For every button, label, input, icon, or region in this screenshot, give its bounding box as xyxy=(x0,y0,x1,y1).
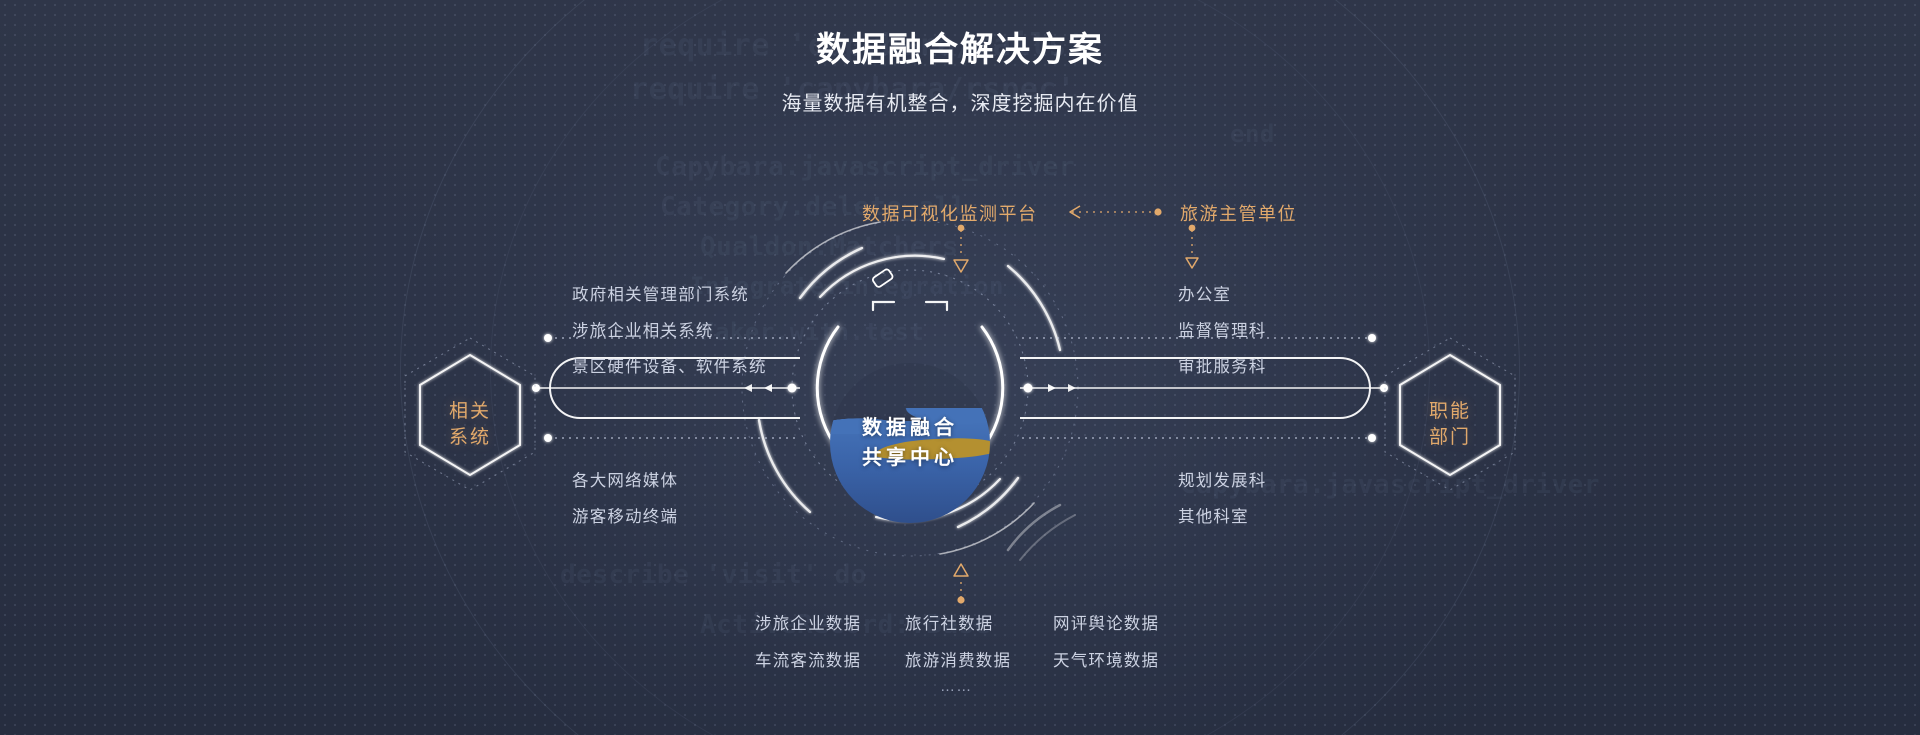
poster-background: require 'capybara/rails' require 'capyba… xyxy=(0,0,1920,735)
label-left-upper-2[interactable]: 景区硬件设备、软件系统 xyxy=(572,353,767,377)
page-subtitle: 海量数据有机整合，深度挖掘内在价值 xyxy=(0,87,1920,116)
right-hexagon-line2: 部门 xyxy=(1429,425,1471,451)
left-hexagon-label: 相关 系统 xyxy=(406,355,534,495)
label-visualization-platform[interactable]: 数据可视化监测平台 xyxy=(862,200,1038,226)
label-bottom-r2c2[interactable]: 天气环境数据 xyxy=(1053,647,1159,671)
sidebar-item-related-systems[interactable]: 相关 系统 xyxy=(406,355,534,495)
right-hexagon-label: 职能 部门 xyxy=(1386,355,1514,495)
center-hub[interactable]: 数据融合 共享中心 xyxy=(830,363,990,523)
label-right-lower-1[interactable]: 其他科室 xyxy=(1178,503,1249,527)
label-right-lower-0[interactable]: 规划发展科 xyxy=(1178,467,1267,491)
decorative-swoosh xyxy=(1008,505,1075,560)
label-right-upper-2[interactable]: 审批服务科 xyxy=(1178,353,1267,377)
label-bottom-r1c2[interactable]: 网评舆论数据 xyxy=(1053,610,1159,634)
label-bottom-r1c1[interactable]: 旅行社数据 xyxy=(905,610,994,634)
label-bottom-r1c0[interactable]: 涉旅企业数据 xyxy=(755,610,861,634)
label-bottom-r2c1[interactable]: 旅游消费数据 xyxy=(905,647,1011,671)
label-right-upper-1[interactable]: 监督管理科 xyxy=(1178,317,1267,341)
hub-line1: 数据融合 xyxy=(862,413,958,443)
page-title: 数据融合解决方案 xyxy=(0,30,1920,71)
hub-line2: 共享中心 xyxy=(862,443,958,473)
right-connector-group xyxy=(1020,334,1388,442)
bottom-orange-connector xyxy=(954,564,968,604)
label-left-lower-0[interactable]: 各大网络媒体 xyxy=(572,467,678,491)
label-left-upper-1[interactable]: 涉旅企业相关系统 xyxy=(572,317,714,341)
label-left-lower-1[interactable]: 游客移动终端 xyxy=(572,503,678,527)
left-hexagon-line1: 相关 xyxy=(449,399,491,425)
label-right-upper-0[interactable]: 办公室 xyxy=(1178,281,1231,305)
label-bottom-r2c0[interactable]: 车流客流数据 xyxy=(755,647,861,671)
label-bottom-ellipsis: …… xyxy=(940,678,972,695)
hub-label: 数据融合 共享中心 xyxy=(830,363,990,523)
right-hexagon-line1: 职能 xyxy=(1429,399,1471,425)
sidebar-item-functional-departments[interactable]: 职能 部门 xyxy=(1386,355,1514,495)
poster-header: 数据融合解决方案 海量数据有机整合，深度挖掘内在价值 xyxy=(0,30,1920,116)
label-left-upper-0[interactable]: 政府相关管理部门系统 xyxy=(572,281,749,305)
left-hexagon-line2: 系统 xyxy=(449,425,491,451)
label-tourism-authority[interactable]: 旅游主管单位 xyxy=(1180,200,1297,226)
